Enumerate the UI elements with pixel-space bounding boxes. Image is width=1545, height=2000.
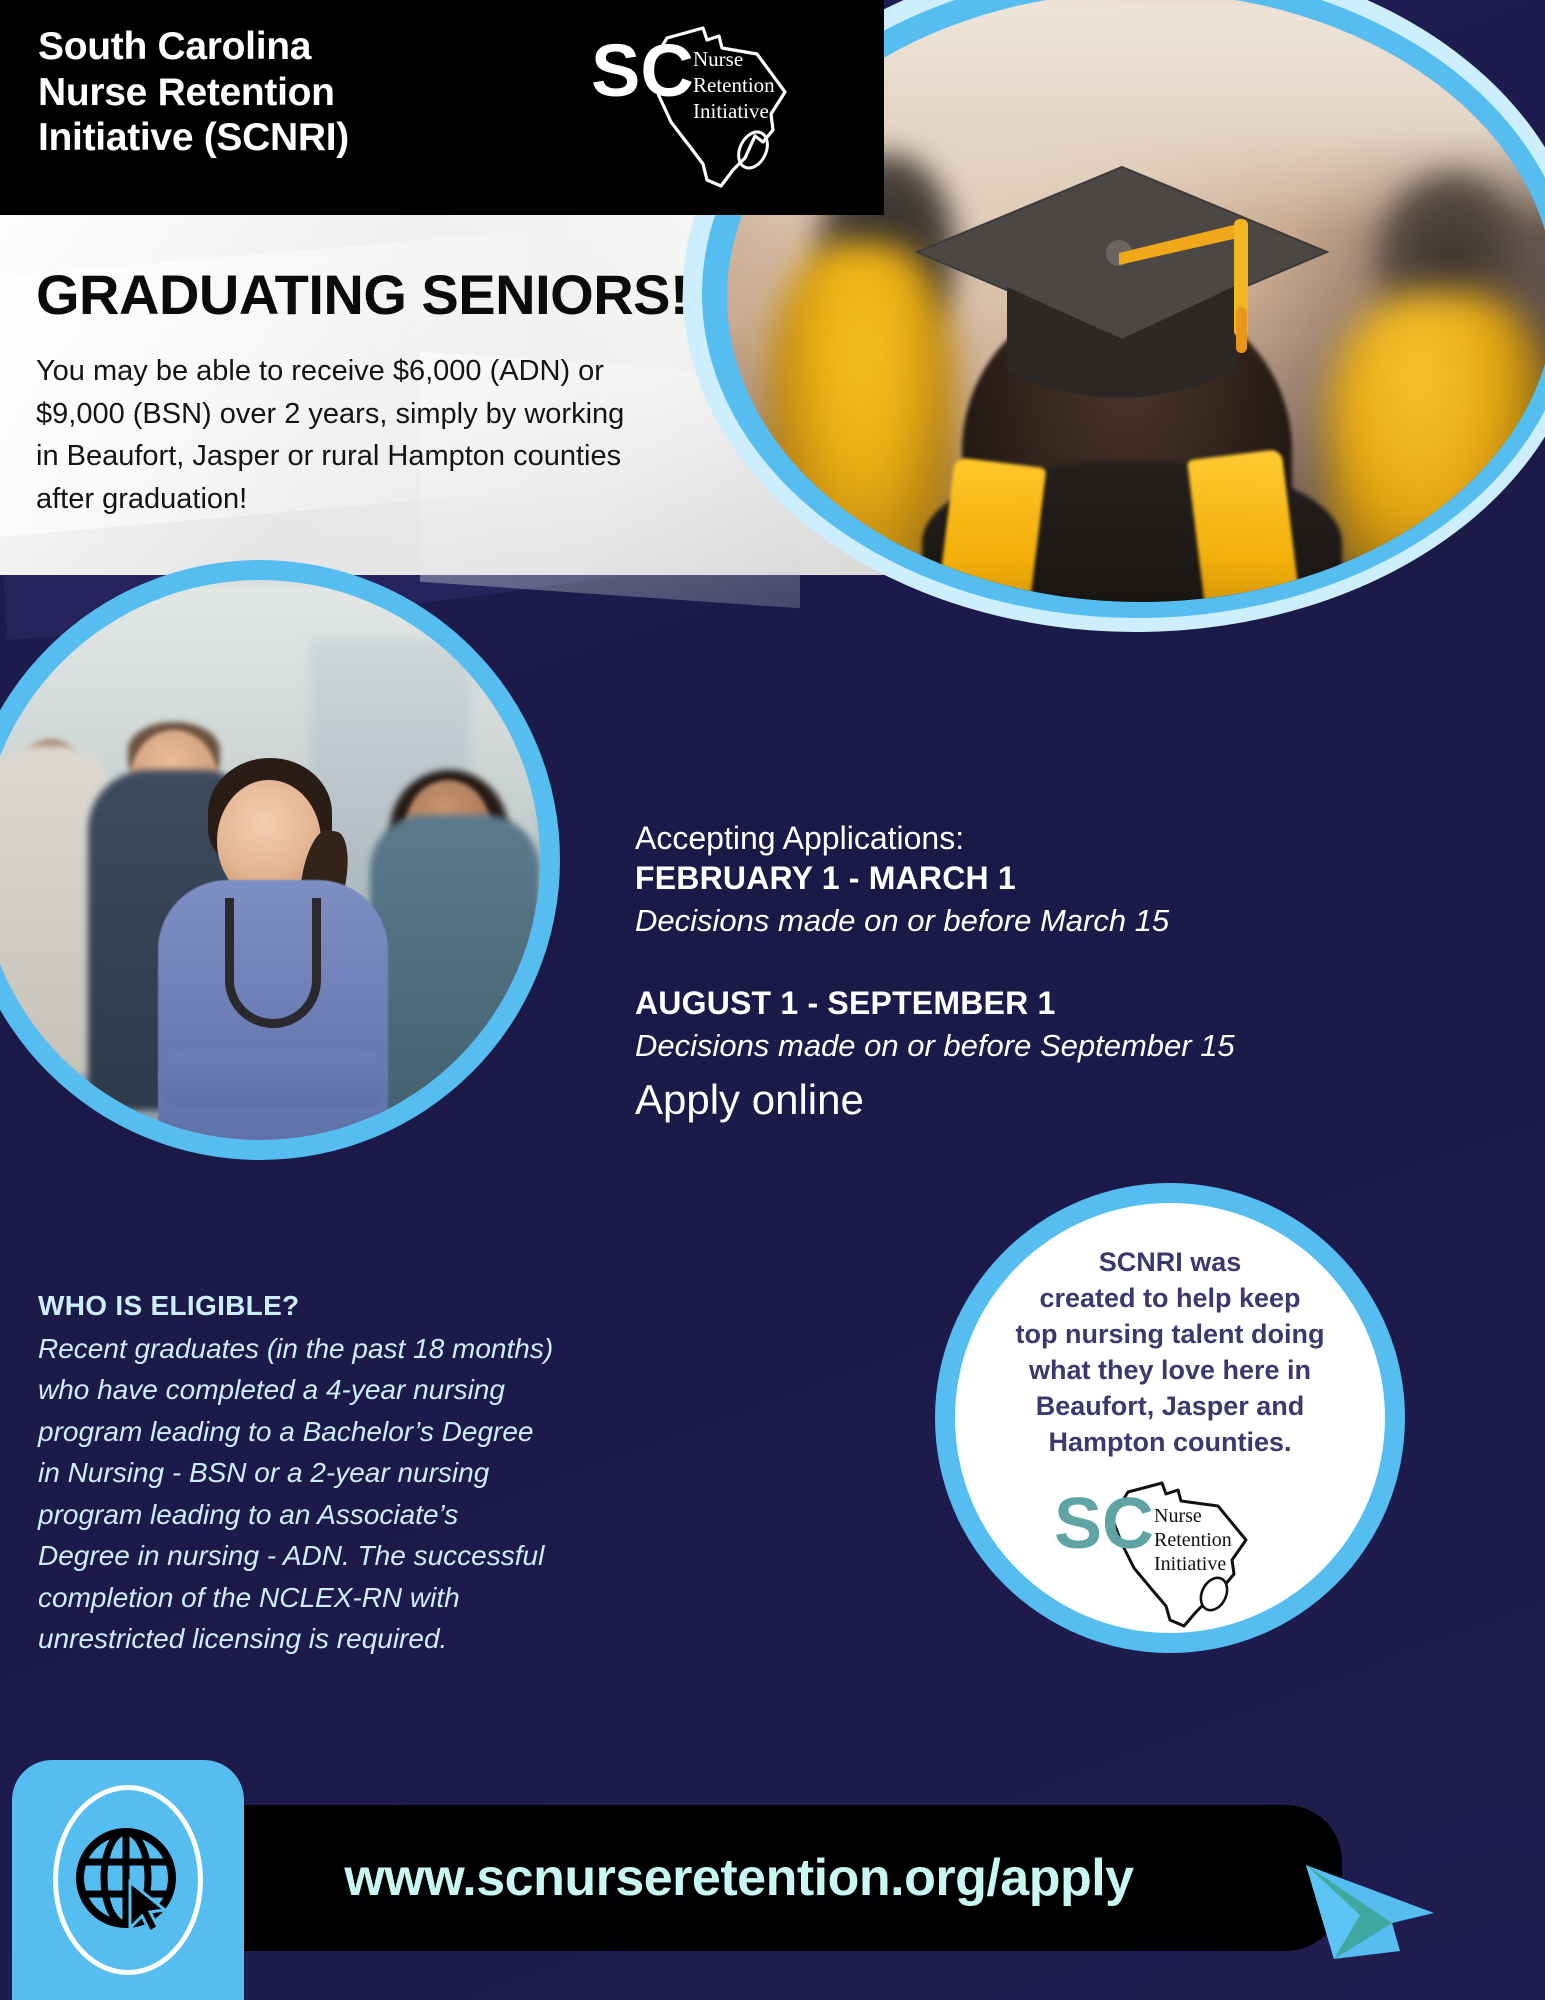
cycle-one-range: FEBRUARY 1 - MARCH 1 bbox=[635, 858, 1325, 900]
cycle-two-decision: Decisions made on or before September 15 bbox=[635, 1025, 1325, 1067]
header-bar: South Carolina Nurse Retention Initiativ… bbox=[0, 0, 884, 215]
svg-text:Initiative: Initiative bbox=[1154, 1553, 1226, 1575]
mission-statement: SCNRI was created to help keep top nursi… bbox=[980, 1245, 1360, 1460]
eligibility-body: Recent graduates (in the past 18 months)… bbox=[38, 1328, 678, 1660]
page-title: South Carolina Nurse Retention Initiativ… bbox=[38, 24, 349, 161]
svg-text:SC: SC bbox=[591, 29, 694, 112]
cycle-two-range: AUGUST 1 - SEPTEMBER 1 bbox=[635, 983, 1325, 1025]
photo-person-3-body bbox=[370, 815, 540, 1135]
svg-text:Nurse: Nurse bbox=[1154, 1505, 1202, 1527]
cycle-one-decision: Decisions made on or before March 15 bbox=[635, 900, 1325, 942]
globe-badge bbox=[12, 1760, 244, 2000]
svg-text:Initiative: Initiative bbox=[693, 99, 769, 123]
flyer-canvas: South Carolina Nurse Retention Initiativ… bbox=[0, 0, 1545, 2000]
svg-text:Retention: Retention bbox=[1154, 1529, 1232, 1551]
footer-url-bar[interactable]: www.scnurseretention.org/apply bbox=[196, 1805, 1342, 1951]
stethoscope-icon bbox=[225, 898, 321, 1028]
dates-spacer bbox=[635, 941, 1325, 983]
photo-bg-figure-right bbox=[1327, 292, 1545, 602]
svg-text:Nurse: Nurse bbox=[693, 47, 743, 71]
eligibility-title: WHO IS ELIGIBLE? bbox=[38, 1290, 678, 1322]
globe-cursor-icon bbox=[68, 1820, 188, 1940]
headline: GRADUATING SENIORS! bbox=[36, 262, 688, 327]
scnri-logo: SC Nurse Retention Initiative bbox=[585, 18, 815, 203]
graduation-cap-icon bbox=[912, 157, 1332, 427]
photo-subject-stole-left bbox=[936, 457, 1047, 602]
svg-text:SC: SC bbox=[1054, 1484, 1154, 1564]
apply-online-label: Apply online bbox=[635, 1073, 1325, 1128]
globe-badge-oval bbox=[53, 1785, 203, 1975]
mission-badge: SCNRI was created to help keep top nursi… bbox=[955, 1203, 1385, 1633]
nurses-photo bbox=[0, 580, 540, 1140]
scnri-logo-badge: SC Nurse Retention Initiative bbox=[1050, 1470, 1290, 1630]
hero-subcopy: You may be able to receive $6,000 (ADN) … bbox=[36, 350, 676, 521]
photo-main-nurse-arms bbox=[158, 1050, 388, 1108]
website-url[interactable]: www.scnurseretention.org/apply bbox=[196, 1805, 1342, 1951]
svg-text:Retention: Retention bbox=[693, 73, 775, 97]
eligibility-block: WHO IS ELIGIBLE? Recent graduates (in th… bbox=[38, 1290, 678, 1660]
paper-plane-icon bbox=[1300, 1855, 1440, 1975]
accepting-applications-label: Accepting Applications: bbox=[635, 818, 1325, 858]
application-dates-block: Accepting Applications: FEBRUARY 1 - MAR… bbox=[635, 818, 1325, 1127]
